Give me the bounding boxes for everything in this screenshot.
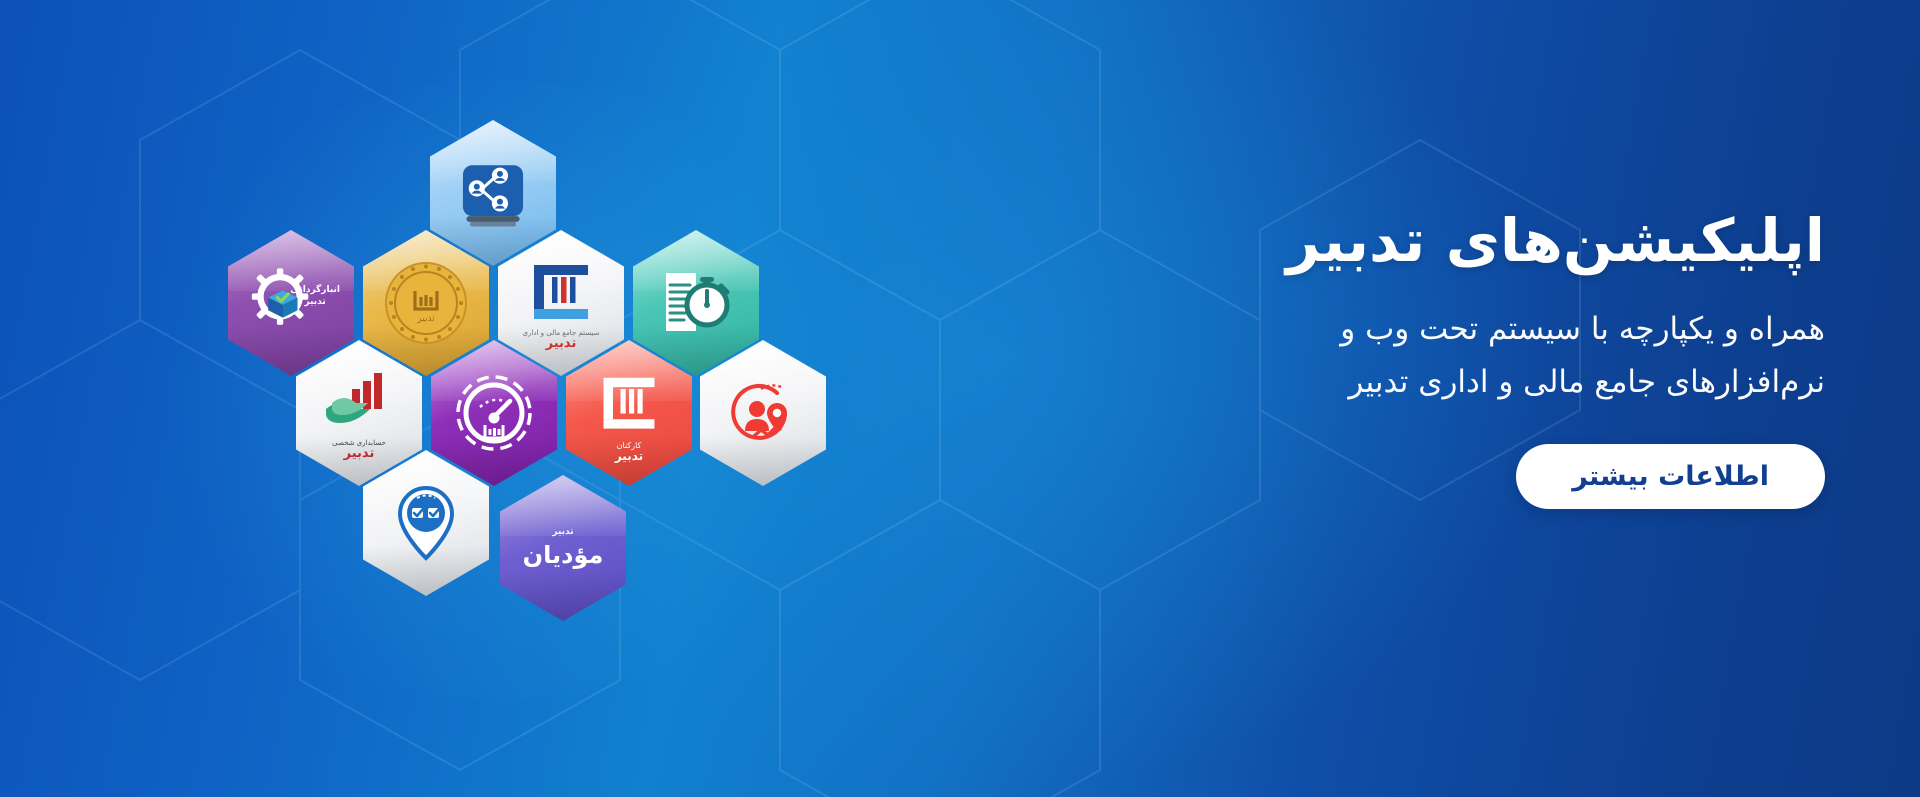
tile-shade xyxy=(500,571,626,621)
modian-icon: مؤدیان xyxy=(523,541,604,569)
tile-signature-modian: تدبیر xyxy=(523,528,604,537)
tile-caption-anbargardani: انبارگردانیتدبیر xyxy=(290,284,340,308)
subtitle-line-1: همراه و یکپارچه با سیستم تحت وب و xyxy=(1105,303,1825,356)
tile-signature-hesabdari: حسابداری شخصی تدبیر xyxy=(296,440,422,460)
hero-banner: انبارگردانیتدبیر xyxy=(0,0,1920,797)
gold-coin-icon: تدبیر xyxy=(382,259,470,347)
page-title: اپلیکیشن‌های تدبیر xyxy=(1105,205,1825,277)
gauge-icon xyxy=(452,371,536,455)
map-pin-check-icon xyxy=(387,482,465,564)
hero-subtitle: همراه و یکپارچه با سیستم تحت وب و نرم‌اف… xyxy=(1105,303,1825,410)
coin-signature: تدبیر xyxy=(416,314,435,324)
tadbir-logo-icon xyxy=(526,259,596,331)
app-tile-tadbir-modian[interactable]: تدبیر مؤدیان xyxy=(500,475,626,621)
subtitle-line-2: نرم‌افزارهای جامع مالی و اداری تدبیر xyxy=(1105,356,1825,409)
tile-signature-karkonan: کارکنان تدبیر xyxy=(566,442,692,462)
more-info-button[interactable]: اطلاعات بیشتر xyxy=(1516,444,1825,509)
network-people-icon xyxy=(456,156,530,230)
tile-signature-tadbir-web: سیستم جامع مالی و اداری تدبیر xyxy=(498,330,624,350)
tadbir-logo-icon xyxy=(596,372,662,440)
document-stopwatch-icon xyxy=(658,267,734,339)
app-hexagon-cluster: انبارگردانیتدبیر xyxy=(228,120,868,640)
person-location-pin-icon xyxy=(727,377,799,449)
hero-copy: اپلیکیشن‌های تدبیر همراه و یکپارچه با سی… xyxy=(1105,205,1825,509)
hand-bar-chart-icon xyxy=(322,373,396,431)
